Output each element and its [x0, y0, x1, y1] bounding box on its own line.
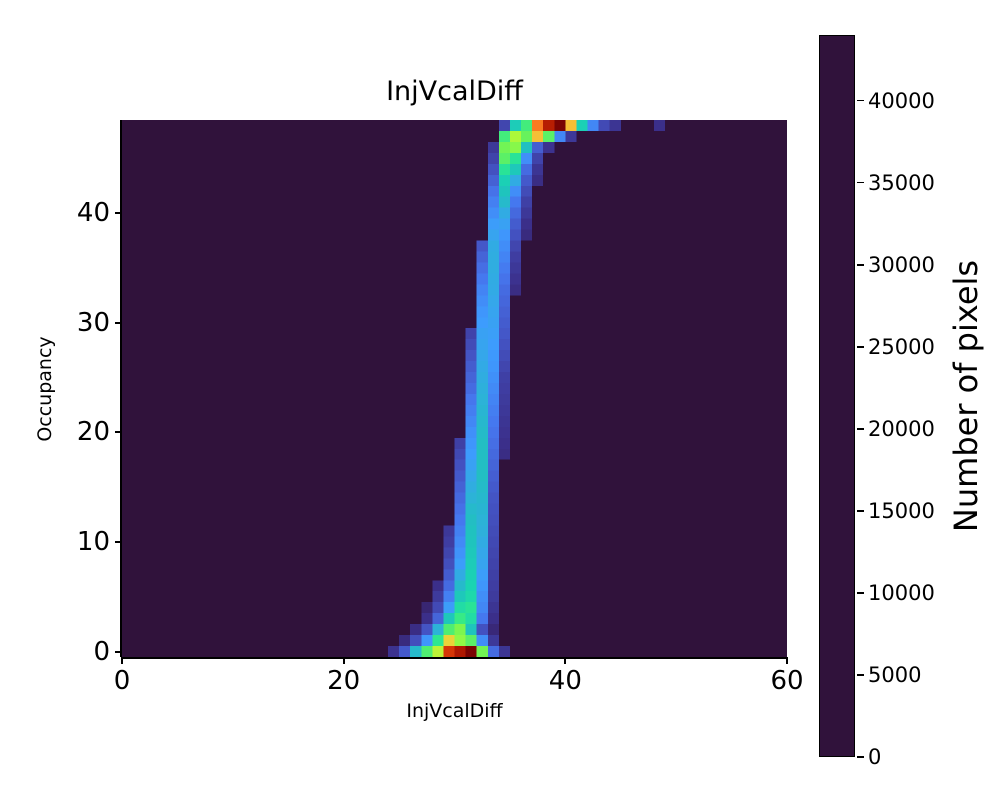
x-tick: [343, 657, 345, 664]
colorbar-tick: [857, 756, 864, 758]
colorbar-tick: [857, 100, 864, 102]
y-tick-label: 20: [77, 417, 110, 447]
y-axis-label-wrap: Occupancy: [26, 120, 48, 657]
y-tick-label: 10: [77, 527, 110, 557]
colorbar-tick-label: 20000: [868, 417, 935, 441]
x-tick: [564, 657, 566, 664]
colorbar-tick-label: 5000: [868, 663, 921, 687]
colorbar-tick-label: 15000: [868, 499, 935, 523]
heatmap-image: [122, 120, 787, 657]
x-tick-label: 20: [327, 666, 360, 696]
colorbar[interactable]: [819, 35, 855, 757]
x-tick-label: 60: [770, 666, 803, 696]
colorbar-tick-label: 35000: [868, 171, 935, 195]
heatmap-plot-area[interactable]: [122, 120, 787, 657]
colorbar-label: Number of pixels: [947, 260, 985, 532]
colorbar-tick: [857, 510, 864, 512]
y-axis-label: Occupancy: [34, 336, 56, 441]
y-tick: [115, 212, 122, 214]
chart-title: InjVcalDiff: [122, 78, 787, 105]
colorbar-tick: [857, 592, 864, 594]
x-tick: [121, 657, 123, 664]
y-tick-label: 40: [77, 198, 110, 228]
x-tick-label: 0: [114, 666, 131, 696]
colorbar-tick: [857, 346, 864, 348]
colorbar-tick-label: 40000: [868, 89, 935, 113]
colorbar-tick-label: 10000: [868, 581, 935, 605]
colorbar-tick: [857, 264, 864, 266]
x-tick-label: 40: [549, 666, 582, 696]
y-tick: [115, 431, 122, 433]
colorbar-tick-label: 30000: [868, 253, 935, 277]
y-tick-label: 30: [77, 308, 110, 338]
y-tick: [115, 651, 122, 653]
colorbar-tick-label: 0: [868, 745, 881, 769]
colorbar-tick: [857, 428, 864, 430]
colorbar-tick-label: 25000: [868, 335, 935, 359]
y-tick: [115, 322, 122, 324]
colorbar-tick: [857, 674, 864, 676]
y-tick: [115, 541, 122, 543]
colorbar-tick: [857, 182, 864, 184]
colorbar-gradient: [820, 36, 854, 756]
x-axis-spine: [122, 657, 787, 659]
x-tick: [786, 657, 788, 664]
y-tick-label: 0: [93, 637, 110, 667]
y-axis-spine: [120, 120, 122, 657]
x-axis-label: InjVcalDiff: [122, 700, 787, 722]
figure-canvas: InjVcalDiff 0204060 010203040 InjVcalDif…: [0, 0, 1000, 800]
